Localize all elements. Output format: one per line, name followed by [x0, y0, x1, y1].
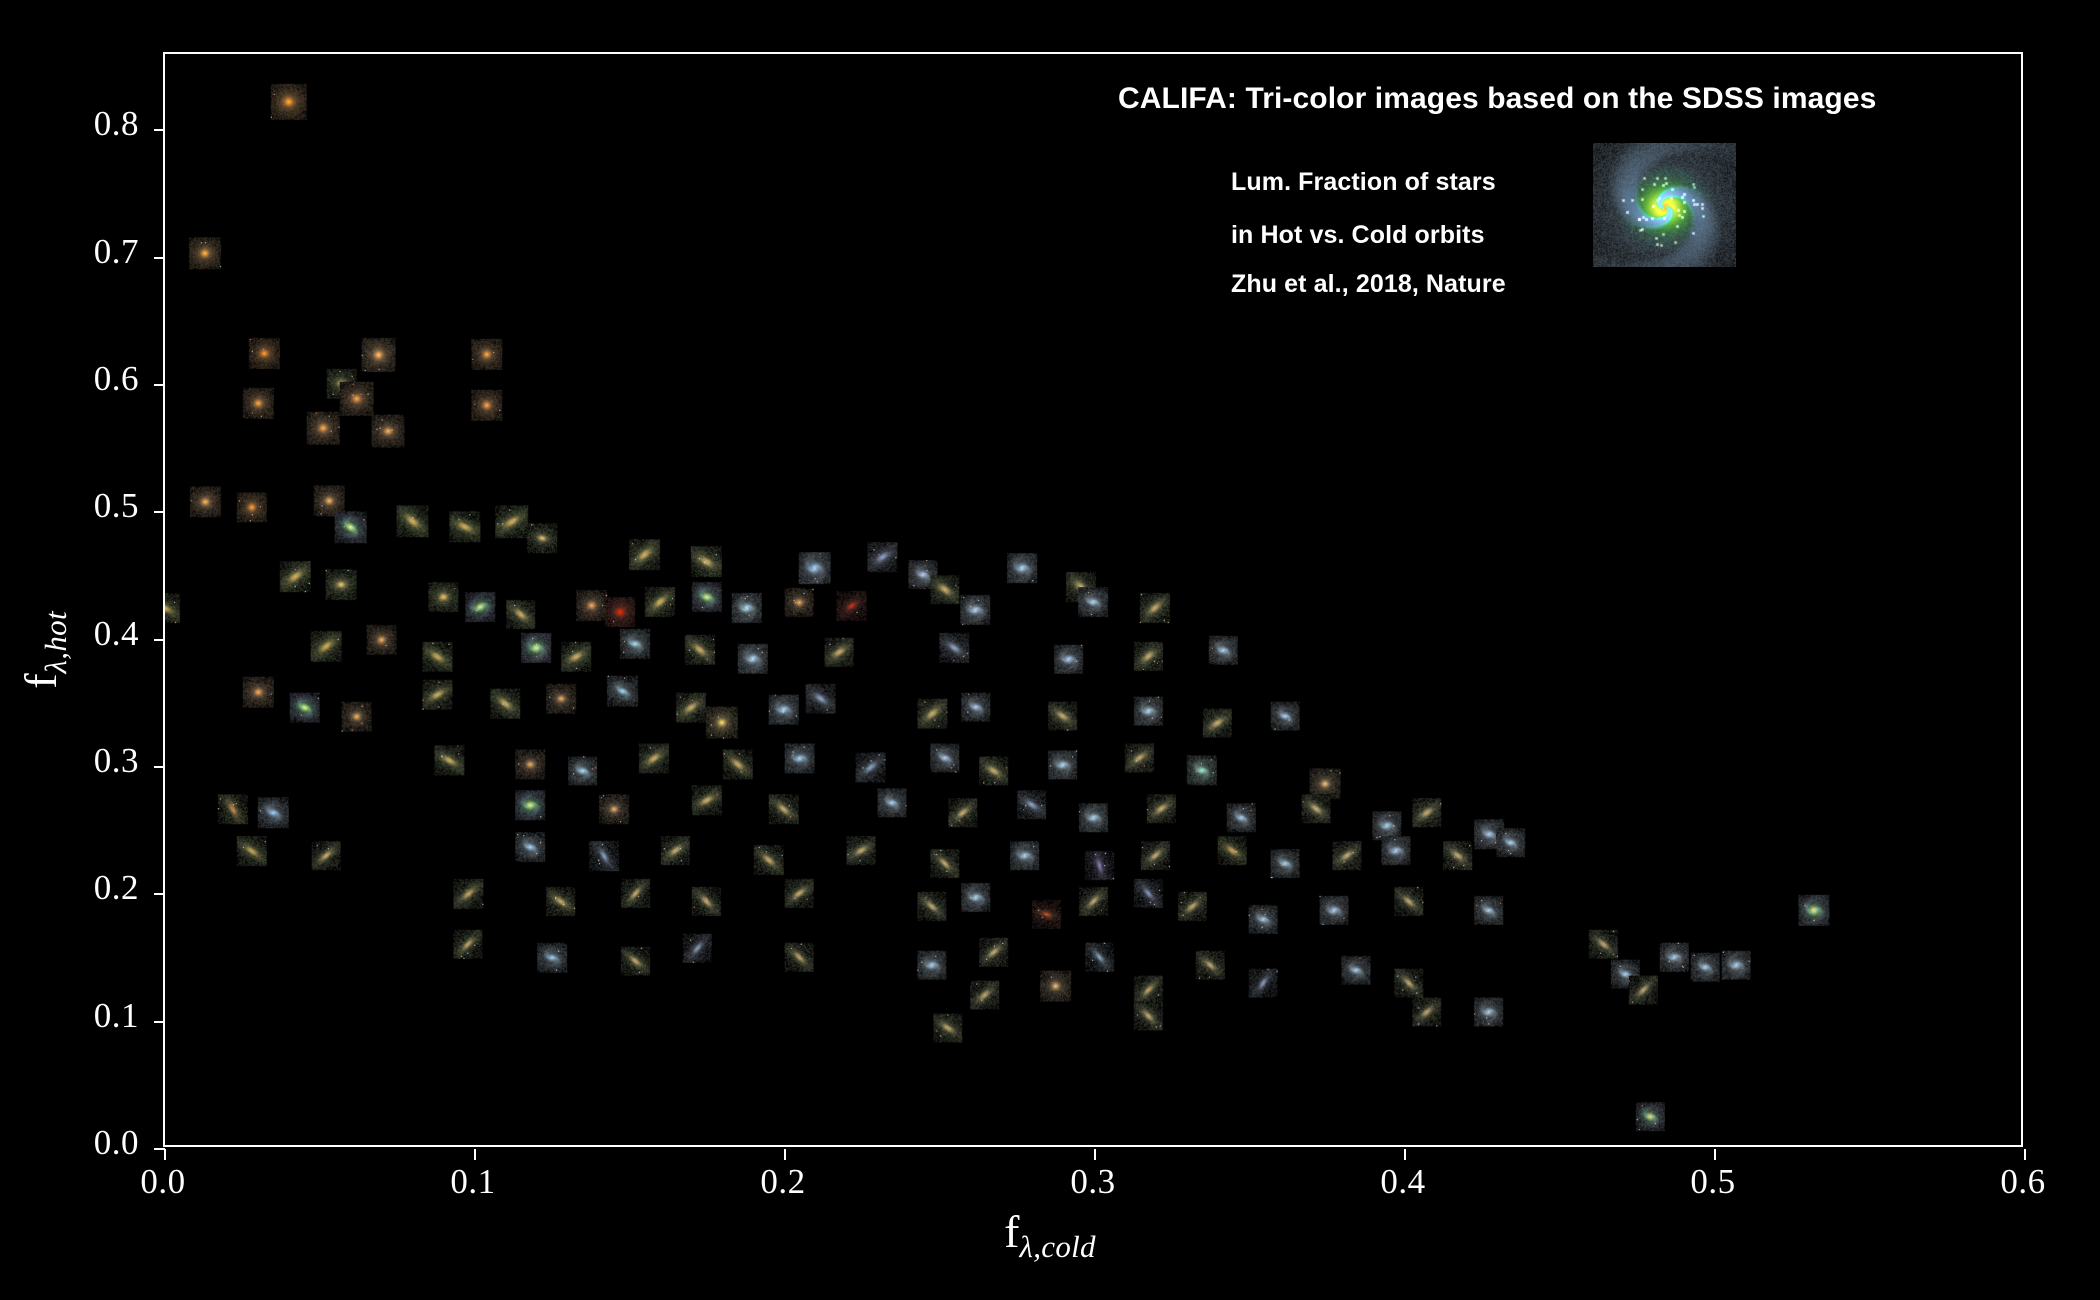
x-tick-label: 0.4 — [1343, 1162, 1463, 1202]
y-tick — [154, 766, 165, 768]
x-tick — [784, 1149, 786, 1160]
y-tick — [154, 511, 165, 513]
annotation-title: CALIFA: Tri-color images based on the SD… — [1118, 82, 2018, 116]
x-tick — [1714, 1149, 1716, 1160]
x-tick — [1094, 1149, 1096, 1160]
inset-galaxy-canvas — [1593, 143, 1736, 267]
y-tick-label: 0.6 — [0, 359, 139, 399]
inset-galaxy-image — [1593, 143, 1736, 267]
y-tick-label: 0.8 — [0, 104, 139, 144]
x-tick — [1404, 1149, 1406, 1160]
x-tick-label: 0.2 — [723, 1162, 843, 1202]
x-tick — [164, 1149, 166, 1160]
x-axis-label: fλ,cold — [0, 1205, 2100, 1265]
x-tick — [474, 1149, 476, 1160]
y-tick-label: 0.2 — [0, 868, 139, 908]
annotation-line-1: Lum. Fraction of stars — [1231, 168, 1496, 197]
x-tick-label: 0.0 — [103, 1162, 223, 1202]
figure-root: fλ,hot fλ,cold 0.00.10.20.30.40.50.60.70… — [0, 0, 2100, 1300]
y-tick-label: 0.7 — [0, 232, 139, 272]
x-tick-label: 0.3 — [1033, 1162, 1153, 1202]
y-tick — [154, 384, 165, 386]
annotation-line-3: Zhu et al., 2018, Nature — [1231, 270, 1506, 299]
y-tick — [154, 257, 165, 259]
y-tick-label: 0.4 — [0, 614, 139, 654]
x-axis-subscript: λ,cold — [1019, 1229, 1095, 1264]
annotation-line-2: in Hot vs. Cold orbits — [1231, 221, 1485, 250]
y-tick — [154, 129, 165, 131]
annotation-block: CALIFA: Tri-color images based on the SD… — [1118, 58, 2018, 338]
y-tick — [154, 1021, 165, 1023]
y-tick-label: 0.1 — [0, 996, 139, 1036]
x-axis-symbol: f — [1004, 1206, 1019, 1257]
x-tick-label: 0.5 — [1653, 1162, 1773, 1202]
x-tick-label: 0.1 — [413, 1162, 533, 1202]
y-tick-label: 0.5 — [0, 486, 139, 526]
y-tick — [154, 639, 165, 641]
y-axis-symbol: f — [15, 673, 66, 688]
x-tick — [2024, 1149, 2026, 1160]
y-tick-label: 0.3 — [0, 741, 139, 781]
x-tick-label: 0.6 — [1963, 1162, 2083, 1202]
y-tick-label: 0.0 — [0, 1123, 139, 1163]
y-tick — [154, 893, 165, 895]
